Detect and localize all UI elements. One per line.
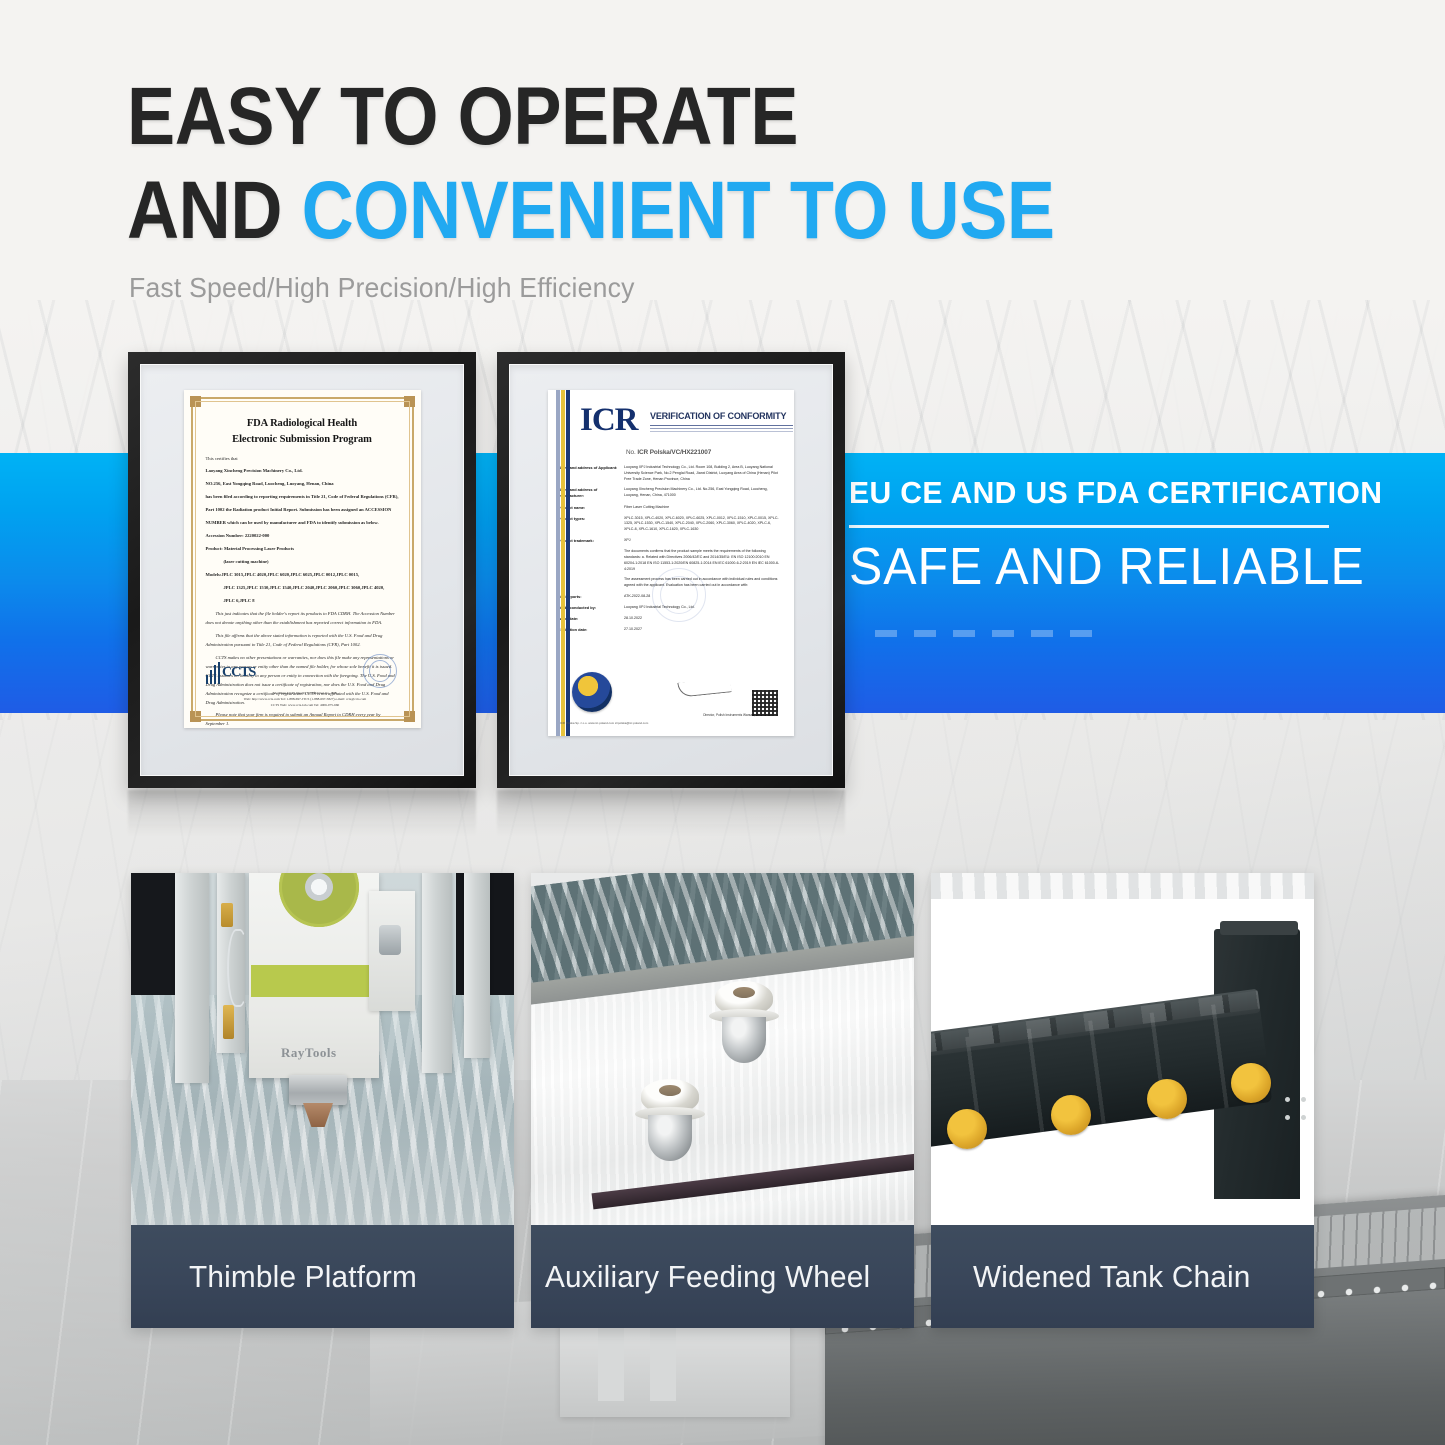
product-caption-label: Widened Tank Chain	[973, 1259, 1251, 1295]
frame-reflection-1	[128, 790, 476, 836]
coiled-wire	[227, 929, 249, 1007]
headline-line-2-accent: CONVENIENT TO USE	[302, 165, 1055, 256]
icr-row: Product name:Fiber Laser Cutting Machine	[558, 505, 780, 511]
chain-yellow-dot-icon	[1051, 1095, 1091, 1135]
fda-title-line-1: FDA Radiological Health	[206, 416, 399, 432]
fda-footer: Shenzhen CCTS Quality Certification Co.,…	[208, 690, 403, 708]
fda-models-3: JPLC 6,JPLC 8	[206, 597, 399, 606]
headline-line-1: EASY TO OPERATE	[127, 78, 1227, 156]
scene-top-strip	[931, 873, 1314, 899]
product-caption-bar: Thimble Platform	[131, 1225, 514, 1328]
wheel-ball	[722, 1017, 766, 1063]
raytools-brand-label: RayTools	[281, 1045, 337, 1061]
laser-head-scene: RayTools	[131, 873, 514, 1225]
fda-title-line-2: Electronic Submission Program	[206, 432, 399, 448]
product-photo-feeding-wheel	[531, 873, 914, 1225]
ccts-logo-icon: CCTS	[206, 658, 262, 688]
brass-fitting-icon	[221, 903, 233, 927]
fda-accession-value: 2220022-000	[245, 533, 270, 538]
fda-footer-line-3: CCTS Web: www.ccts-lab.com Tel: 4006-075…	[208, 702, 403, 708]
tank-chain-scene	[931, 873, 1314, 1225]
laser-head-green-band	[251, 965, 377, 997]
fda-intro: This certifies that	[206, 455, 399, 464]
fda-note-1: This just indicates that the file holder…	[206, 610, 399, 628]
headline-line-2: AND CONVENIENT TO USE	[127, 172, 1227, 250]
product-card-auxiliary-feeding-wheel[interactable]: Auxiliary Feeding Wheel	[531, 873, 914, 1328]
fda-address: NO.256, East Yongqing Road, Luocheng, Lu…	[206, 480, 399, 489]
banner-dash-decoration	[875, 630, 1092, 637]
certificate-frame-fda[interactable]: FDA Radiological Health Electronic Submi…	[128, 352, 476, 788]
fda-models-1: Models:JPLC 3015,JPLC 4020,JPLC 6020,JPL…	[206, 571, 399, 580]
icr-number-label: No.	[626, 449, 636, 456]
gantry-rail	[175, 873, 209, 1083]
banner-title: EU CE AND US FDA CERTIFICATION	[849, 475, 1382, 511]
icr-row-value: 27.10.2027	[624, 627, 780, 633]
icr-accreditation-badge-icon	[572, 672, 612, 712]
icr-certificate-document: ICR VERIFICATION OF CONFORMITY No. ICR P…	[548, 390, 794, 736]
icr-row-value: XPLC-3015, XPLC-4020, XPLC-6020, XPLC-60…	[624, 516, 780, 533]
poster-root: EASY TO OPERATE AND CONVENIENT TO USE Fa…	[0, 0, 1445, 1445]
frame-reflection-2	[497, 790, 845, 836]
brass-fitting-icon	[223, 1005, 234, 1039]
icr-header: ICR VERIFICATION OF CONFORMITY	[548, 390, 794, 437]
product-card-thimble-platform[interactable]: RayTools Thimble Platform	[131, 873, 514, 1328]
icr-row-value: The documents confirms that the product …	[624, 549, 780, 572]
icr-row-value: Fiber Laser Cutting Machine	[624, 505, 780, 511]
product-photo-tank-chain	[931, 873, 1314, 1225]
product-caption-bar: Auxiliary Feeding Wheel	[531, 1225, 914, 1328]
chain-yellow-dot-icon	[1147, 1079, 1187, 1119]
product-caption-label: Auxiliary Feeding Wheel	[545, 1259, 870, 1295]
fda-product: Product: Material Processing Laser Produ…	[206, 545, 399, 554]
frame-mat-2: ICR VERIFICATION OF CONFORMITY No. ICR P…	[509, 364, 833, 776]
icr-number-value: ICR Polska/VC/HX221007	[637, 449, 711, 456]
icr-signature-icon	[678, 674, 736, 702]
frame-mat-1: FDA Radiological Health Electronic Submi…	[140, 364, 464, 776]
gantry-rail	[422, 873, 452, 1073]
icr-row-value: Luoyang Xincheng Precision Machinery Co.…	[624, 487, 780, 499]
icr-row-value: XPJ	[624, 538, 780, 544]
chain-yellow-dot-icon	[1231, 1063, 1271, 1103]
feeding-wheel-scene	[531, 873, 914, 1225]
ball-transfer-wheel	[709, 981, 779, 1065]
icr-number-row: No. ICR Polska/VC/HX221007	[548, 449, 794, 456]
ccts-logo-text: CCTS	[222, 665, 255, 681]
icr-row: Product types:XPLC-3015, XPLC-4020, XPLC…	[558, 516, 780, 533]
fda-note-2: This file affirms that the above stated …	[206, 632, 399, 650]
product-caption-label: Thimble Platform	[189, 1259, 417, 1295]
product-caption-bar: Widened Tank Chain	[931, 1225, 1314, 1328]
fda-product-sub: (laser cutting machine)	[206, 558, 399, 567]
certificate-frame-icr[interactable]: ICR VERIFICATION OF CONFORMITY No. ICR P…	[497, 352, 845, 788]
icr-watermark-seal-icon	[652, 568, 706, 622]
icr-side-stripe	[556, 390, 571, 736]
fda-models-2: JPLC 1325,JPLC 1530,JPLC 1540,JPLC 2040,…	[206, 584, 399, 593]
banner-divider	[849, 525, 1329, 528]
ball-transfer-wheel	[635, 1079, 705, 1163]
icr-title-rules	[650, 425, 793, 432]
icr-row: Name and address of manufacturer:Luoyang…	[558, 487, 780, 499]
icr-logo-text: ICR	[580, 404, 638, 437]
gantry-rail	[464, 873, 490, 1058]
fda-models-label: Models:	[206, 572, 222, 577]
fda-note-4: Please note that your firm is required t…	[206, 711, 399, 728]
fda-certificate-document: FDA Radiological Health Electronic Submi…	[184, 390, 421, 728]
product-photo-thimble-platform: RayTools	[131, 873, 514, 1225]
banner-subtitle: SAFE AND RELIABLE	[849, 537, 1365, 597]
icr-qr-code-icon	[752, 690, 778, 716]
page-subtitle: Fast Speed/High Precision/High Efficienc…	[129, 272, 635, 304]
chain-yellow-dot-icon	[947, 1109, 987, 1149]
fda-accession-label: Accession Number:	[206, 533, 244, 538]
page-title: EASY TO OPERATE AND CONVENIENT TO USE	[127, 78, 1377, 250]
logo-bars	[206, 662, 221, 684]
fda-product-label: Product:	[206, 546, 223, 551]
product-card-widened-tank-chain[interactable]: Widened Tank Chain	[931, 873, 1314, 1328]
fda-product-value: Material Processing Laser Products	[224, 546, 294, 551]
wheel-ball	[648, 1115, 692, 1161]
fda-para-3: NUMBER which can be used by manufacturer…	[206, 519, 399, 528]
icr-title: VERIFICATION OF CONFORMITY	[650, 411, 786, 422]
fda-company: Laoyang Xincheng Precision Machinery Co.…	[206, 467, 399, 476]
fda-para-1: has been filed according to reporting re…	[206, 493, 399, 502]
fda-models-line-1: JPLC 3015,JPLC 4020,JPLC 6020,JPLC 6025,…	[221, 572, 359, 577]
icr-title-block: VERIFICATION OF CONFORMITY	[650, 404, 793, 434]
icr-row-value: 28.10.2022	[624, 616, 780, 622]
post-bolt-icon	[1285, 1097, 1290, 1102]
fda-stamp-icon	[363, 654, 397, 688]
icr-left-footer: ICR Polska Sp. z o.o. www.icr-poland.com…	[560, 721, 648, 726]
laser-head-knob	[379, 925, 401, 955]
fda-para-2: Part 1002 the Radiation product Initial …	[206, 506, 399, 515]
icr-row: Expiration date:27.10.2027	[558, 627, 780, 633]
laser-nozzle-holder	[289, 1075, 347, 1105]
icr-row: Product trademark:XPJ	[558, 538, 780, 544]
fda-accession: Accession Number: 2220022-000	[206, 532, 399, 541]
headline-line-2-plain: AND	[127, 165, 302, 256]
icr-row: Name and address of Applicant:Luoyang XP…	[558, 465, 780, 482]
banner-text-block: EU CE AND US FDA CERTIFICATION SAFE AND …	[849, 453, 1389, 713]
icr-row-value: Luoyang XPJ Industrial Technology Co., L…	[624, 465, 780, 482]
